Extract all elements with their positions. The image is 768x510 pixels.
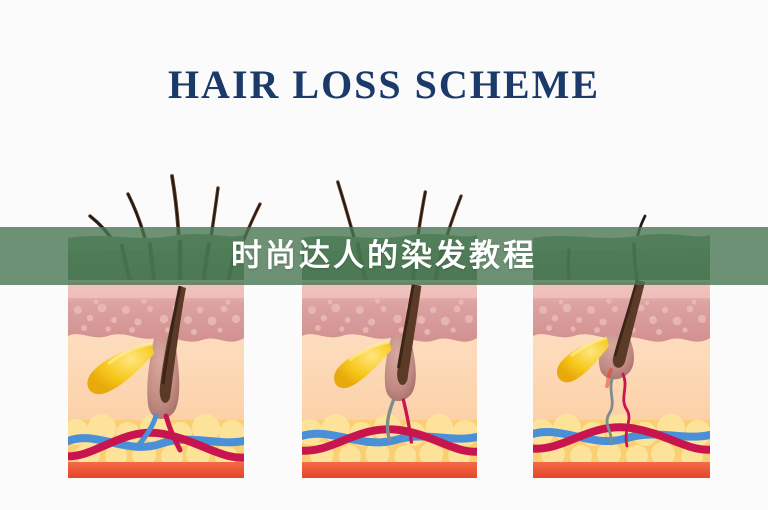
illustration-canvas: HAIR LOSS SCHEME (0, 0, 768, 510)
diagram-panel-1 (68, 120, 244, 478)
skin-cross-section-2 (302, 120, 477, 478)
muscle-layer-1 (68, 462, 244, 478)
skin-cross-section-1 (68, 120, 244, 478)
muscle-layer-2 (302, 462, 477, 478)
page-title: HAIR LOSS SCHEME (0, 64, 768, 106)
overlay-banner-text: 时尚达人的染发教程 (231, 239, 537, 273)
diagram-panel-2 (302, 120, 477, 478)
overlay-banner: 时尚达人的染发教程 (0, 227, 768, 285)
muscle-layer-3 (533, 462, 710, 478)
diagram-panel-3 (533, 120, 710, 478)
skin-cross-section-3 (533, 120, 710, 478)
